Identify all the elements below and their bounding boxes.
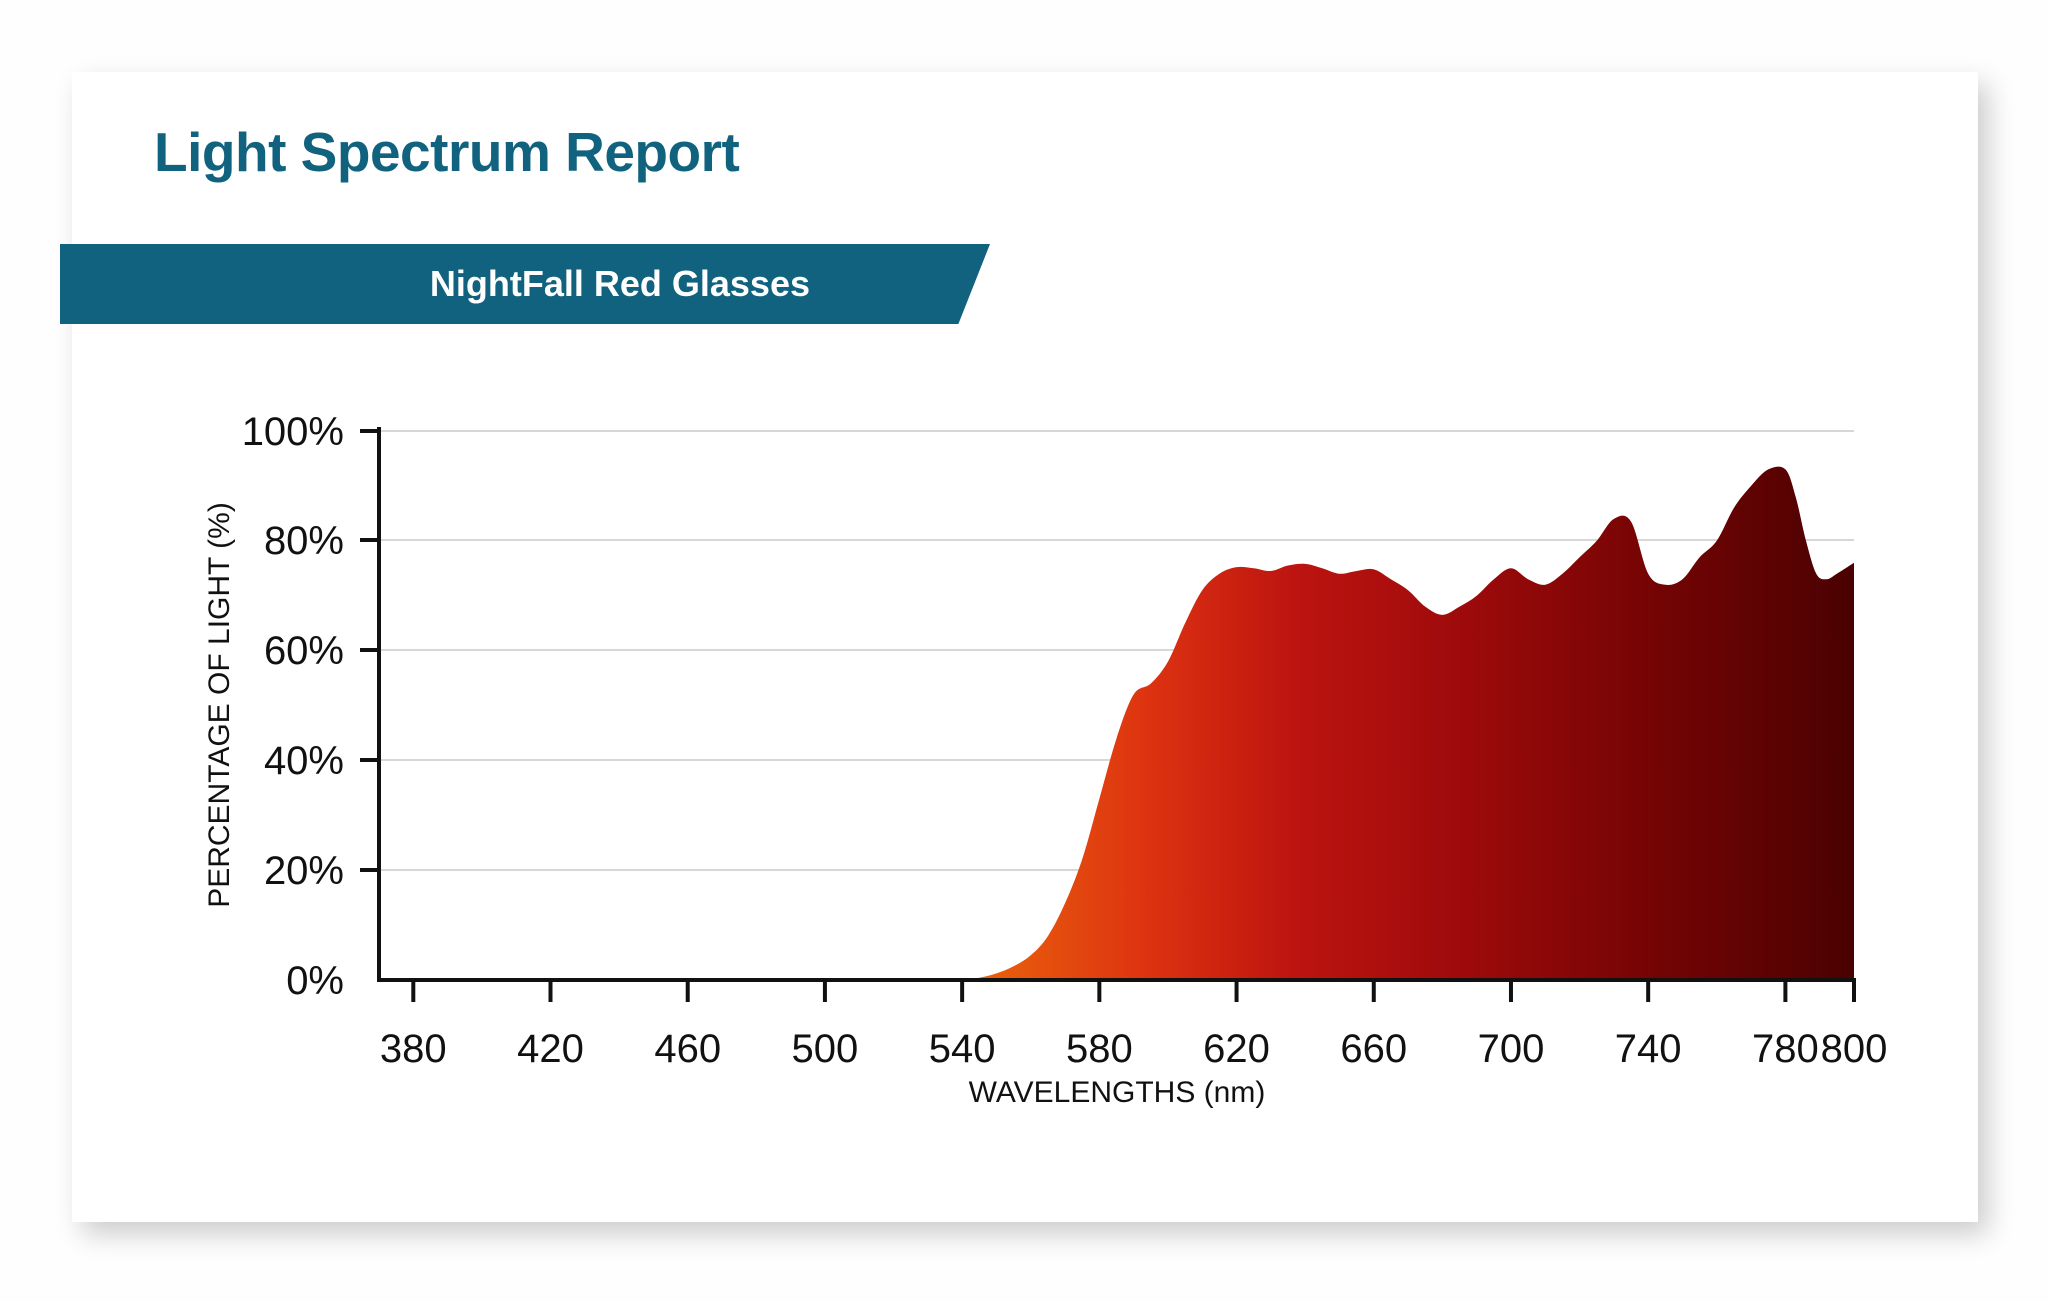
- x-tick-label: 420: [517, 1027, 584, 1071]
- y-tick-label: 20%: [264, 849, 344, 893]
- x-tick-label: 780: [1752, 1027, 1819, 1071]
- x-tick-label: 540: [929, 1027, 996, 1071]
- chart-svg: 100% 80% 60% 40% 20% 0% 3804204605005405…: [72, 72, 1978, 1222]
- y-tick-label: 100%: [242, 410, 344, 454]
- y-tick-label: 0%: [286, 959, 344, 1003]
- x-tick-label: 580: [1066, 1027, 1133, 1071]
- y-tickmarks: [360, 431, 379, 870]
- x-tick-label: 660: [1340, 1027, 1407, 1071]
- y-tick-label: 80%: [264, 519, 344, 563]
- y-tick-label: 40%: [264, 739, 344, 783]
- x-axis-title: WAVELENGTHS (nm): [969, 1076, 1266, 1109]
- report-card: Light Spectrum Report NightFall Red Glas…: [72, 72, 1978, 1222]
- x-tick-label: 620: [1203, 1027, 1270, 1071]
- x-tick-label: 460: [654, 1027, 721, 1071]
- y-axis-title: PERCENTAGE OF LIGHT (%): [203, 502, 236, 908]
- y-tick-label: 60%: [264, 629, 344, 673]
- x-tick-label: 700: [1478, 1027, 1545, 1071]
- spectrum-area: [379, 467, 1854, 981]
- x-tick-label: 500: [792, 1027, 859, 1071]
- x-tick-label: 740: [1615, 1027, 1682, 1071]
- x-tick-label: 800: [1821, 1027, 1888, 1071]
- x-tickmarks: [413, 980, 1854, 1002]
- spectrum-chart: 100% 80% 60% 40% 20% 0% 3804204605005405…: [72, 72, 1978, 1222]
- y-tick-labels: 100% 80% 60% 40% 20% 0%: [242, 410, 344, 1003]
- x-tick-labels: 380420460500540580620660700740780800: [380, 1027, 1887, 1071]
- x-tick-label: 380: [380, 1027, 447, 1071]
- page-root: Light Spectrum Report NightFall Red Glas…: [0, 0, 2048, 1302]
